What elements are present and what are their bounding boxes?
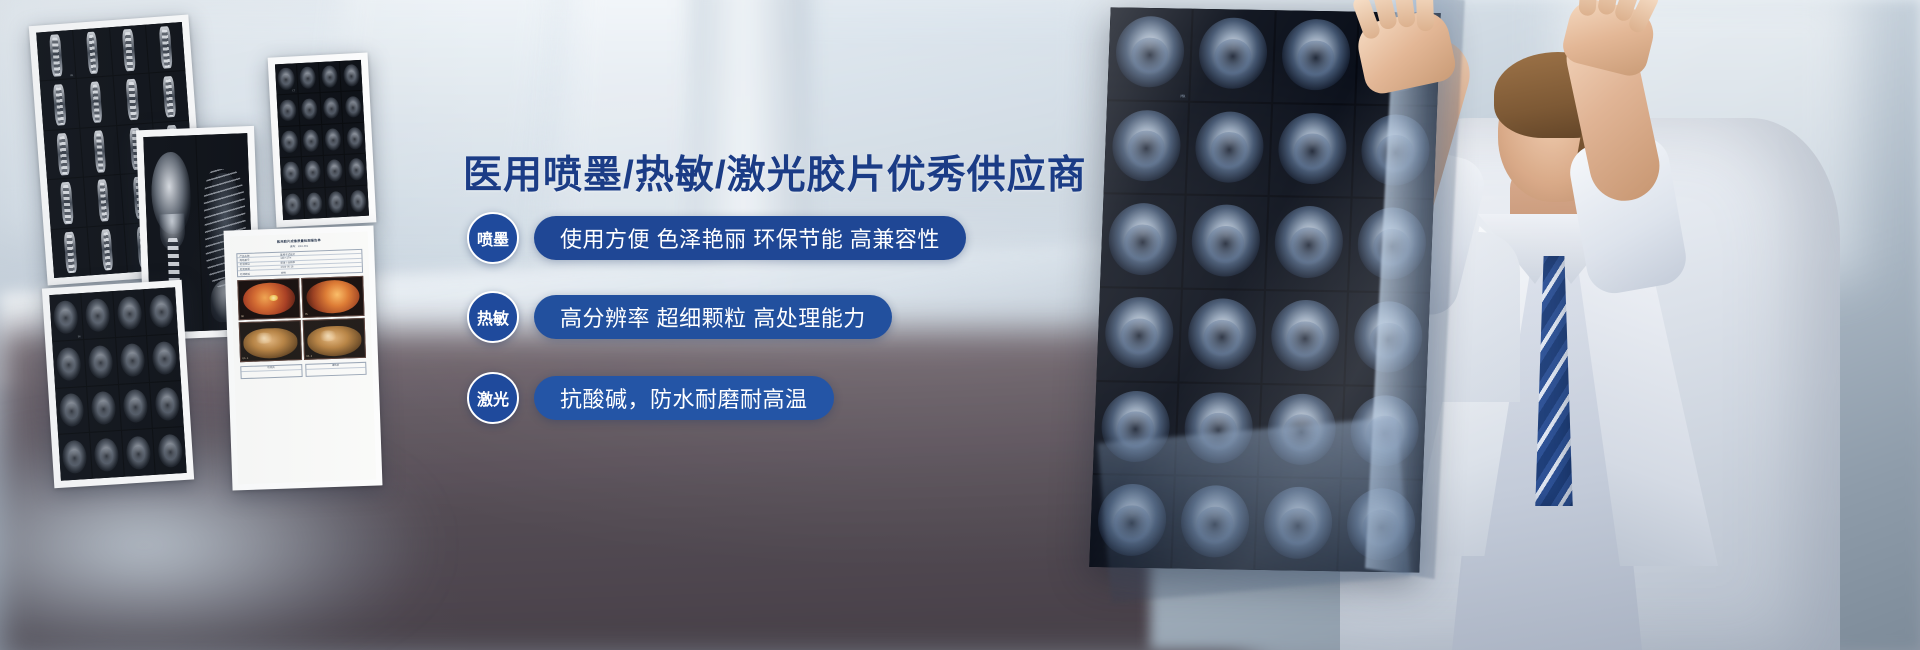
finger: [1393, 0, 1416, 28]
mri-tile: [87, 224, 126, 275]
report-signature-row: 检测员 审核员: [240, 362, 366, 379]
ultrasound-photo-1: US-1: [239, 320, 302, 362]
mri-tile: [1100, 195, 1185, 288]
mri-tile: [43, 129, 82, 180]
mri-tile: MR: [1107, 7, 1192, 100]
feature-row-laser: 激光 抗酸碱，防水耐磨耐高温: [467, 372, 834, 424]
signature-box-inspector: 检测员: [240, 364, 302, 379]
doctor-photo: MR: [1080, 0, 1920, 650]
mri-tile: [300, 125, 322, 156]
mri-tile: [58, 433, 92, 481]
report-field-table: 产品名称 医用干式胶片 规格型号 14in×17in 检测项目 密度 / 分辨率: [236, 249, 363, 277]
finger: [1416, 0, 1435, 31]
mri-tile-label: DR: [78, 335, 81, 338]
mri-tile: [90, 431, 124, 479]
mri-tile: [116, 336, 150, 384]
hero-banner: MR: [0, 0, 1920, 650]
film-sheet-brain-mri-bottom: DR: [42, 280, 194, 488]
mri-tile: [109, 25, 148, 76]
mri-tile: [1270, 104, 1355, 197]
fundus-photo-left: OS: [301, 276, 364, 318]
mri-tile: DR: [49, 293, 83, 341]
mri-tile: [150, 381, 184, 429]
photo-tag: US-2: [306, 354, 312, 357]
banner-content: 医用喷墨/热敏/激光胶片优秀供应商 喷墨 使用方便 色泽艳丽 环保节能 高兼容性…: [460, 0, 1080, 650]
mri-tile: MR: [36, 30, 75, 81]
mri-tile: [323, 155, 345, 186]
fundus-photo-right: OD: [237, 278, 300, 320]
mri-tile: [1190, 9, 1275, 102]
photo-tag: OD: [241, 315, 244, 318]
mri-tile: [322, 124, 344, 155]
film-sheet-brain-mri-top: CT: [268, 52, 377, 227]
photo-tag: OS: [305, 313, 308, 316]
ultrasound-photo-2: US-2: [303, 318, 366, 360]
feature-badge-inkjet: 喷墨: [467, 212, 519, 264]
mri-tile: [1183, 196, 1268, 289]
mri-tile: [342, 91, 364, 122]
mri-tile: [40, 79, 79, 130]
mri-tile: [47, 178, 86, 229]
mri-tile: [76, 77, 115, 128]
mri-tile: [73, 27, 112, 78]
mri-tile: [84, 175, 123, 226]
mri-tile: [340, 60, 362, 91]
mri-tile: [51, 227, 90, 278]
mri-tile: [146, 22, 185, 73]
mri-tile: [1096, 288, 1181, 381]
feature-row-inkjet: 喷墨 使用方便 色泽艳丽 环保节能 高兼容性: [467, 212, 966, 264]
feature-pill-inkjet: 使用方便 色泽艳丽 环保节能 高兼容性: [534, 216, 966, 260]
feature-pill-laser: 抗酸碱，防水耐磨耐高温: [534, 376, 834, 420]
mri-tile-label: MR: [70, 74, 73, 77]
report-body: 医用胶片成像质量检测报告单 编号：XXX-001 产品名称 医用干式胶片 规格型…: [230, 232, 377, 485]
mri-tile: [1262, 291, 1347, 384]
signature-box-reviewer: 审核员: [305, 362, 367, 377]
mri-tile: [278, 126, 300, 157]
mri-tile-label: CT: [292, 90, 295, 93]
mri-tile: [1179, 290, 1264, 383]
mri-tile: [297, 62, 319, 93]
mri-tile: [302, 156, 324, 187]
mri-tile: [343, 123, 365, 154]
mri-tile: [81, 291, 115, 339]
mri-tile: CT: [275, 63, 297, 94]
film-edge-curl-bottom: [1098, 417, 1411, 603]
photo-tag: US-1: [242, 357, 248, 360]
mri-tile: [121, 429, 155, 477]
mri-tile: [1187, 102, 1272, 195]
mri-tile: [119, 383, 153, 431]
mri-tile: [320, 92, 342, 123]
feature-pill-thermal: 高分辨率 超细颗粒 高处理能力: [534, 295, 892, 339]
signature-label: 检测员: [241, 365, 301, 373]
printed-report-sheet: 医用胶片成像质量检测报告单 编号：XXX-001 产品名称 医用干式胶片 规格型…: [224, 225, 383, 490]
signature-label: 审核员: [306, 363, 366, 371]
feature-badge-thermal: 热敏: [467, 291, 519, 343]
mri-tile: [147, 334, 181, 382]
mri-tile: [1104, 101, 1189, 194]
mri-tile: [1273, 10, 1358, 103]
mri-tile: [150, 71, 189, 122]
medical-film-collage: MR: [0, 0, 430, 650]
mri-tile: [303, 188, 325, 219]
feature-badge-laser: 激光: [467, 372, 519, 424]
mri-tile: [87, 385, 121, 433]
mri-tile: [325, 186, 347, 217]
mri-tile: [282, 189, 304, 220]
mri-tile: [55, 387, 89, 435]
mri-tile: [318, 61, 340, 92]
mri-tile: [277, 95, 299, 126]
mri-tile: [1266, 197, 1351, 290]
feature-row-thermal: 热敏 高分辨率 超细颗粒 高处理能力: [467, 291, 892, 343]
mri-tile: [113, 289, 147, 337]
mri-tile: [52, 340, 86, 388]
report-field-key: 检测结论: [240, 270, 281, 275]
mri-tile: [280, 157, 302, 188]
mri-tile: [153, 427, 187, 475]
mri-tile: [144, 287, 178, 335]
necktie-knot: [1532, 246, 1576, 280]
finger: [1578, 0, 1598, 16]
mri-tile-label: MR: [1180, 93, 1185, 98]
mri-tile-grid: CT: [275, 60, 369, 220]
mri-tile: [80, 126, 119, 177]
mri-tile-grid: DR: [49, 287, 186, 481]
banner-headline: 医用喷墨/热敏/激光胶片优秀供应商: [463, 144, 1087, 200]
mri-tile: [347, 185, 369, 216]
mri-tile: [113, 74, 152, 125]
mri-tile: [298, 93, 320, 124]
mri-tile: [345, 154, 367, 185]
report-photo-grid: OD OS US-1 US-2: [237, 276, 366, 362]
mri-tile: [84, 338, 118, 386]
